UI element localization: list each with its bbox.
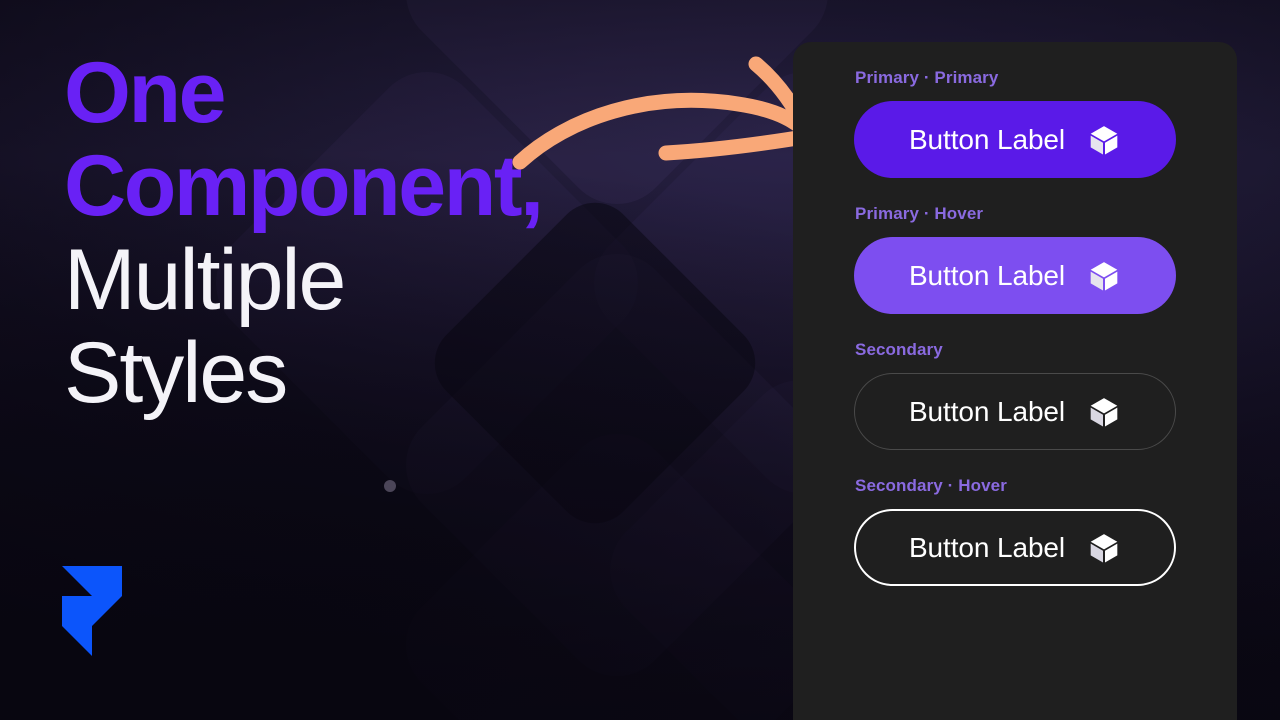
- button-primary-label: Button Label: [909, 124, 1065, 156]
- variant-label-secondary-hover: Secondary · Hover: [855, 476, 1176, 496]
- variant-label-primary: Primary · Primary: [855, 68, 1176, 88]
- button-primary-hover-label: Button Label: [909, 260, 1065, 292]
- button-secondary-hover-label: Button Label: [909, 532, 1065, 564]
- headline-line-4: Styles: [64, 327, 764, 420]
- screenshot-canvas: One Component, Multiple Styles Primary ·…: [0, 0, 1280, 720]
- variant-group-secondary-hover: Secondary · Hover Button Label: [793, 476, 1237, 586]
- button-secondary-hover[interactable]: Button Label: [854, 509, 1176, 586]
- variant-group-secondary: Secondary Button Label: [793, 340, 1237, 450]
- button-secondary-label: Button Label: [909, 396, 1065, 428]
- framer-logo: [62, 566, 122, 656]
- cube-icon: [1087, 259, 1121, 293]
- button-secondary[interactable]: Button Label: [854, 373, 1176, 450]
- headline-line-1: One: [64, 47, 764, 140]
- button-primary[interactable]: Button Label: [854, 101, 1176, 178]
- variant-label-primary-hover: Primary · Hover: [855, 204, 1176, 224]
- decorative-dot: [384, 480, 396, 492]
- headline-line-3: Multiple: [64, 234, 764, 327]
- variant-label-secondary: Secondary: [855, 340, 1176, 360]
- variant-group-primary: Primary · Primary Button Label: [793, 68, 1237, 178]
- page-title: One Component, Multiple Styles: [64, 47, 764, 420]
- variants-panel: Primary · Primary Button Label Primary ·…: [793, 42, 1237, 720]
- cube-icon: [1087, 395, 1121, 429]
- button-primary-hover[interactable]: Button Label: [854, 237, 1176, 314]
- headline-line-2: Component,: [64, 140, 764, 233]
- cube-icon: [1087, 123, 1121, 157]
- cube-icon: [1087, 531, 1121, 565]
- variant-group-primary-hover: Primary · Hover Button Label: [793, 204, 1237, 314]
